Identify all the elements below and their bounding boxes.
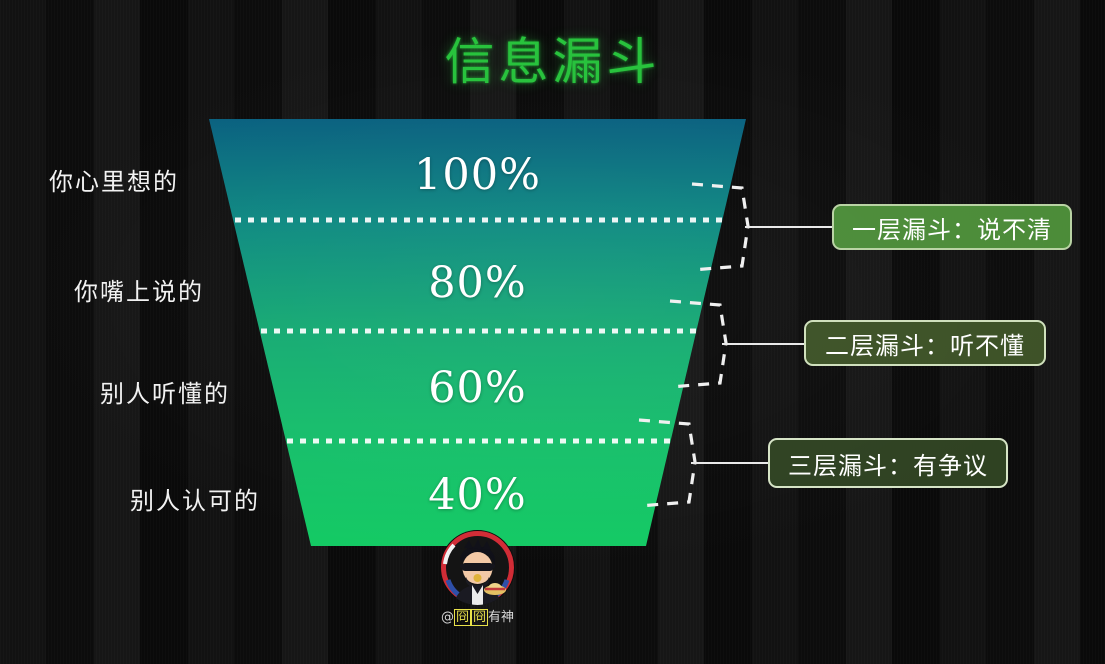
callout-box-2[interactable]: 二层漏斗：听不懂: [804, 320, 1046, 366]
watermark-boxed-1: 冏: [454, 609, 471, 626]
callout-label-3: 三层漏斗：有争议: [788, 446, 988, 481]
bracket-3-path: [639, 420, 695, 506]
funnel-stage-label-3: 别人听懂的: [100, 374, 230, 409]
bracket-2-path: [670, 301, 726, 387]
funnel-stage-label-1: 你心里想的: [49, 162, 179, 197]
funnel-stage-label-2: 你嘴上说的: [74, 272, 204, 307]
callout-label-1: 一层漏斗：说不清: [852, 210, 1052, 245]
slide-canvas: 信息漏斗 100: [0, 0, 1105, 664]
watermark-suffix: 有神: [488, 610, 514, 625]
watermark-boxed-2: 冏: [471, 609, 488, 626]
watermark-prefix: @: [441, 610, 454, 625]
bracket-1-path: [692, 184, 748, 270]
connector-line-1: [745, 226, 833, 228]
page-title: 信息漏斗: [0, 22, 1105, 94]
callout-box-1[interactable]: 一层漏斗：说不清: [832, 204, 1072, 250]
connector-line-2: [722, 343, 805, 345]
funnel-percent-3: 60%: [209, 363, 746, 413]
watermark-text: @冏冏有神: [440, 606, 515, 625]
funnel-stage-label-4: 别人认可的: [130, 481, 260, 516]
funnel-percent-1: 100%: [209, 150, 746, 200]
callout-label-2: 二层漏斗：听不懂: [825, 326, 1025, 361]
avatar-logo-icon: [440, 530, 515, 605]
connector-line-3: [691, 462, 769, 464]
funnel-percent-2: 80%: [209, 258, 746, 308]
callout-box-3[interactable]: 三层漏斗：有争议: [768, 438, 1008, 488]
